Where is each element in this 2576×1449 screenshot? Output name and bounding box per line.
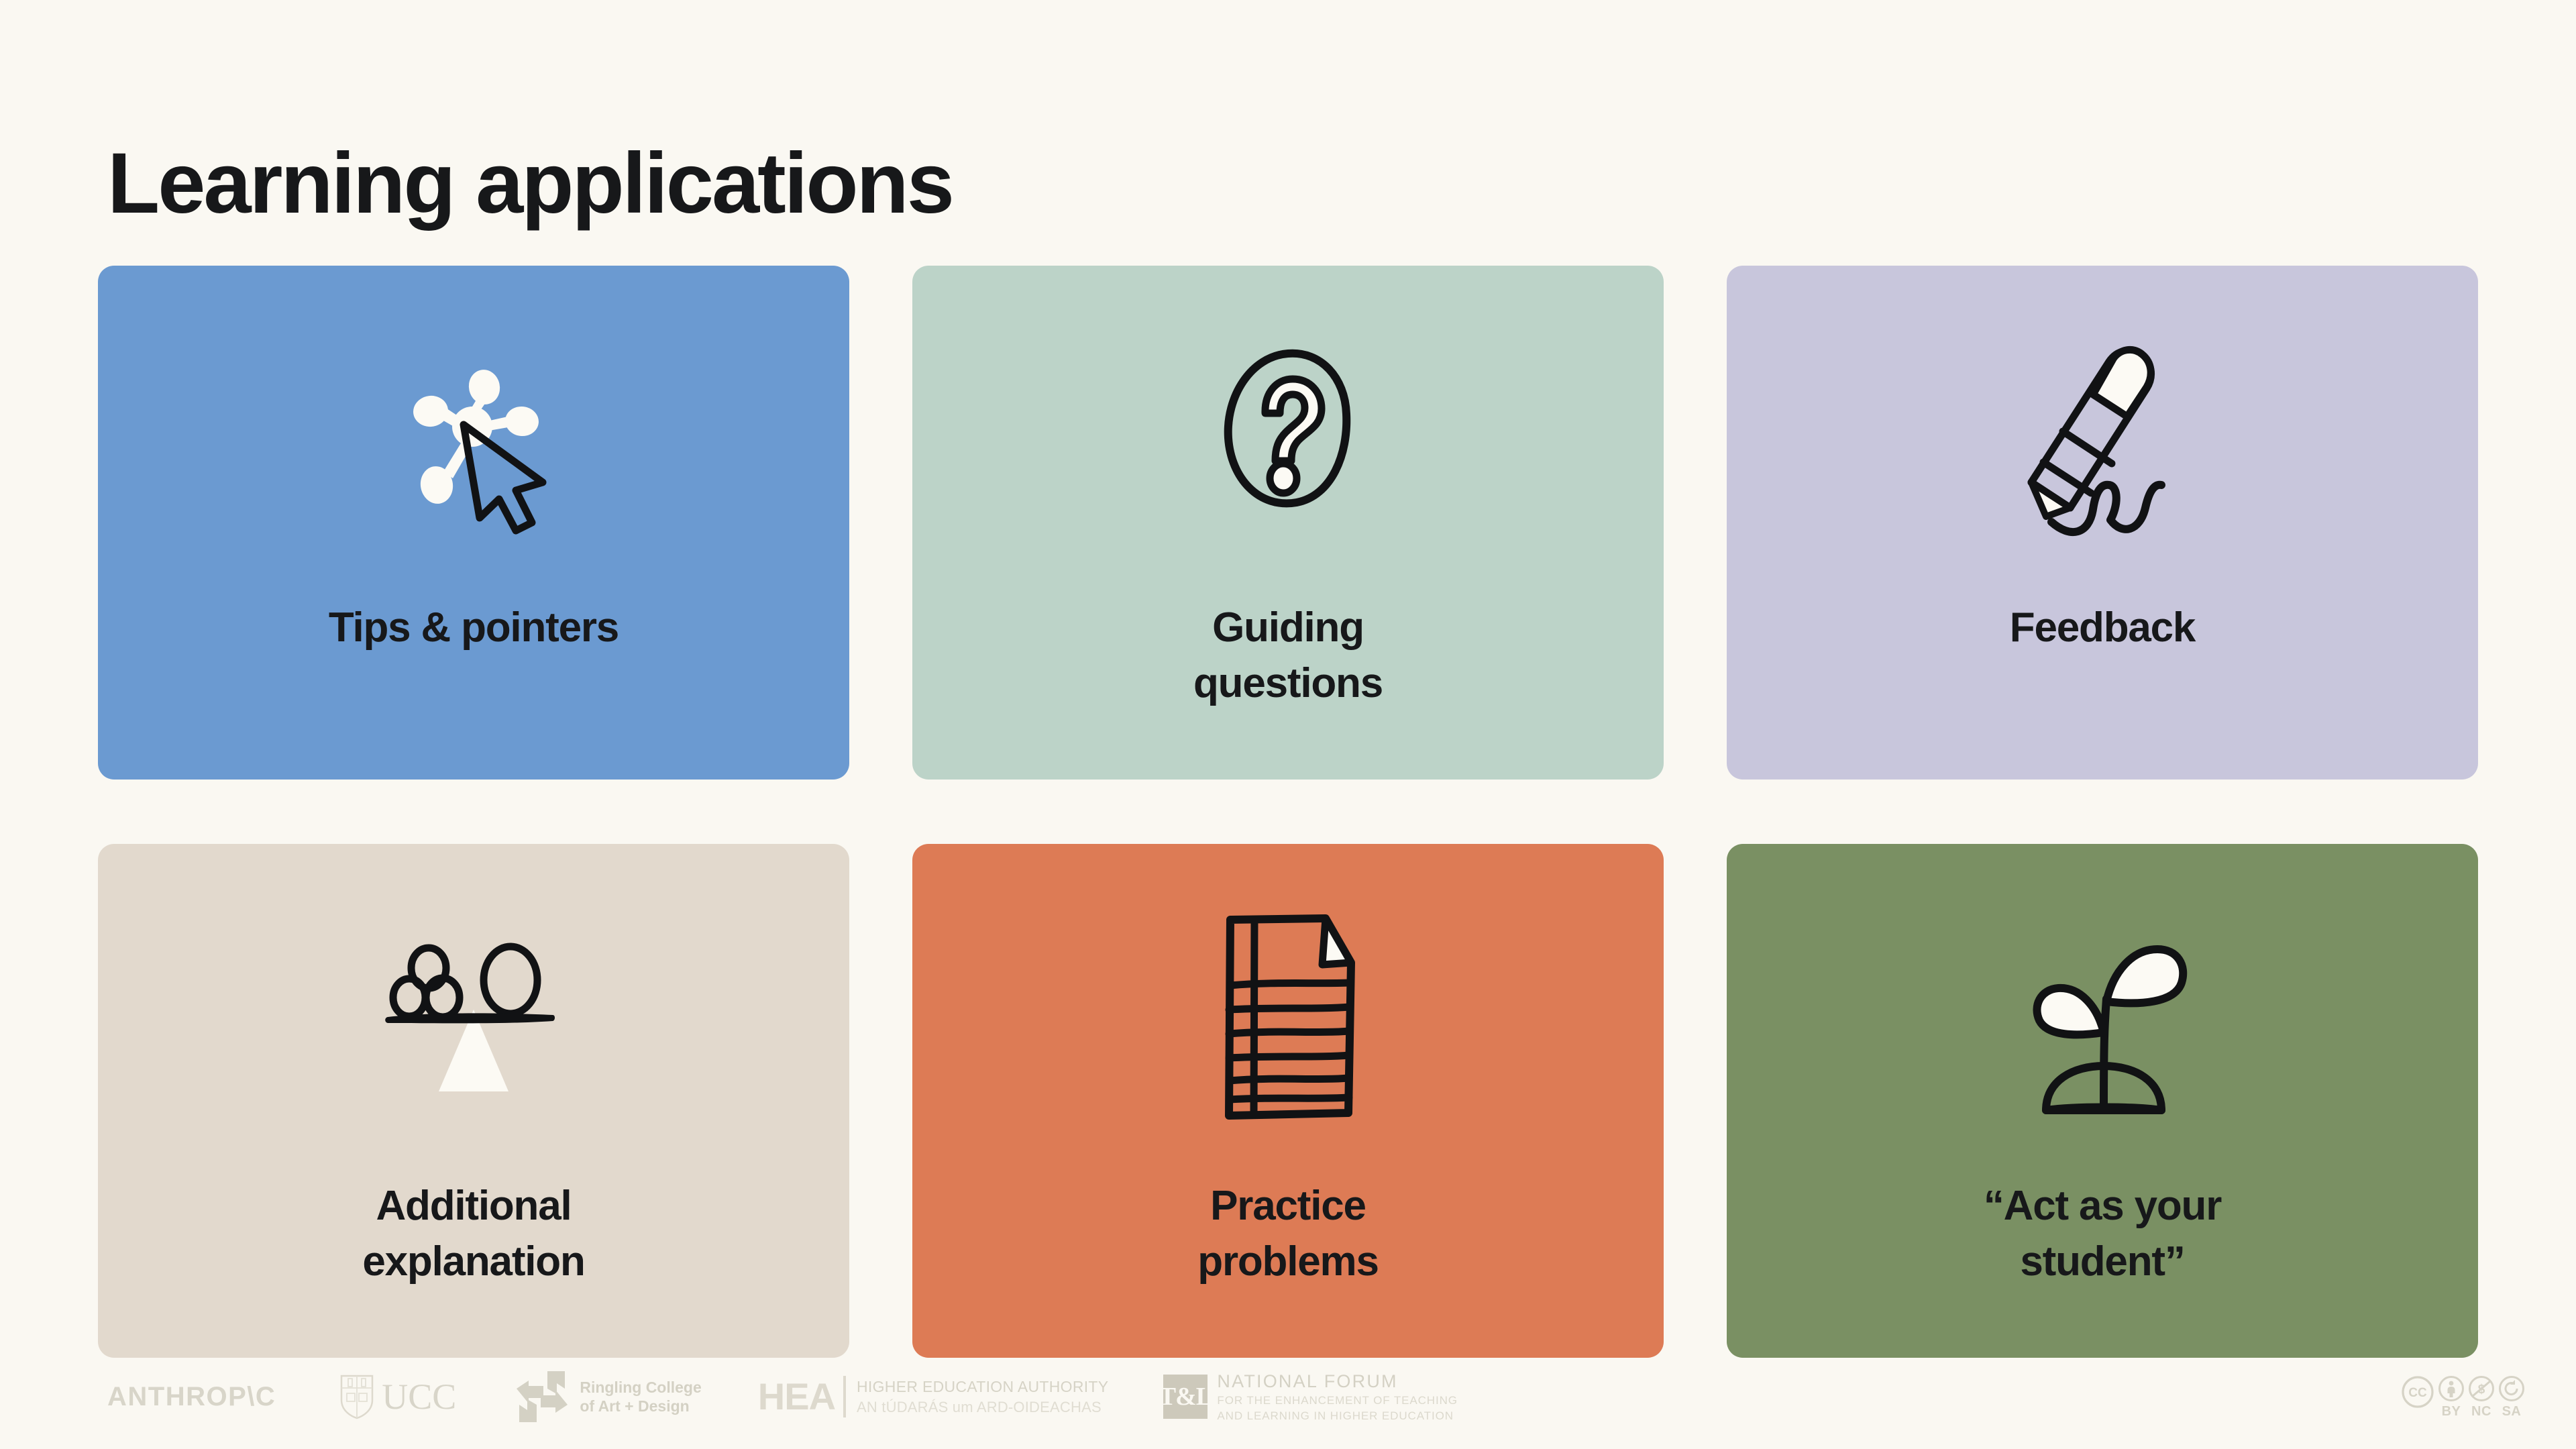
cc-badge-cc: CC bbox=[2401, 1375, 2434, 1409]
balance-seesaw-icon bbox=[98, 884, 849, 1152]
footer: ANTHROP\C UCC Ring bbox=[0, 1362, 2576, 1449]
hea-tagline: HIGHER EDUCATION AUTHORITY AN tÚDARÁS um… bbox=[857, 1377, 1108, 1417]
worksheet-page-icon bbox=[912, 884, 1664, 1152]
anthropic-logo: ANTHROP\C bbox=[107, 1382, 276, 1412]
cursor-network-icon bbox=[98, 306, 849, 574]
card-label: Tips & pointers bbox=[125, 600, 822, 655]
card-tips-and-pointers[interactable]: Tips & pointers bbox=[98, 266, 849, 780]
card-label: Additional explanation bbox=[125, 1178, 822, 1289]
card-guiding-questions[interactable]: Guiding questions bbox=[912, 266, 1664, 780]
ringling-logo: Ringling College of Art + Design bbox=[514, 1368, 701, 1425]
cc-caption-by: BY bbox=[2442, 1404, 2461, 1419]
cc-caption-sa: SA bbox=[2502, 1404, 2522, 1419]
ucc-logo: UCC bbox=[339, 1373, 456, 1420]
ringling-mark-icon bbox=[514, 1368, 570, 1425]
cc-badge-nc: $ NC bbox=[2468, 1375, 2495, 1419]
national-forum-name: NATIONAL FORUM bbox=[1217, 1370, 1458, 1393]
hea-logo: HEA HIGHER EDUCATION AUTHORITY AN tÚDARÁ… bbox=[758, 1376, 1109, 1417]
card-act-as-your-student[interactable]: “Act as your student” bbox=[1727, 844, 2478, 1358]
question-mark-circle-icon bbox=[912, 306, 1664, 574]
hea-tagline-en: HIGHER EDUCATION AUTHORITY bbox=[857, 1377, 1108, 1397]
card-feedback[interactable]: Feedback bbox=[1727, 266, 2478, 780]
ucc-crest-icon bbox=[339, 1373, 375, 1420]
hea-wordmark: HEA bbox=[758, 1378, 835, 1415]
attribution-person-icon bbox=[2438, 1375, 2465, 1402]
slide-root: Learning applications bbox=[0, 0, 2576, 1449]
creative-commons-license: CC BY $ NC bbox=[2401, 1375, 2525, 1419]
cc-icon: CC bbox=[2401, 1375, 2434, 1409]
card-label: “Act as your student” bbox=[1754, 1178, 2451, 1289]
noncommercial-icon: $ bbox=[2468, 1375, 2495, 1402]
sprout-icon bbox=[1727, 884, 2478, 1152]
national-forum-logo: T&L NATIONAL FORUM FOR THE ENHANCEMENT O… bbox=[1163, 1370, 1458, 1423]
national-forum-tagline: NATIONAL FORUM FOR THE ENHANCEMENT OF TE… bbox=[1217, 1370, 1458, 1423]
cc-caption-nc: NC bbox=[2471, 1404, 2491, 1419]
national-forum-mark: T&L bbox=[1163, 1375, 1207, 1419]
card-grid: Tips & pointers Guiding questions bbox=[98, 266, 2478, 1358]
hea-tagline-ga: AN tÚDARÁS um ARD-OIDEACHAS bbox=[857, 1397, 1108, 1417]
ucc-wordmark: UCC bbox=[382, 1379, 456, 1415]
card-additional-explanation[interactable]: Additional explanation bbox=[98, 844, 849, 1358]
partner-logo-row: ANTHROP\C UCC Ring bbox=[107, 1368, 1458, 1425]
card-label: Feedback bbox=[1754, 600, 2451, 655]
ringling-wordmark: Ringling College of Art + Design bbox=[580, 1378, 701, 1415]
hea-divider bbox=[843, 1376, 846, 1417]
cc-badge-sa: SA bbox=[2498, 1375, 2525, 1419]
svg-text:CC: CC bbox=[2408, 1386, 2427, 1400]
sharealike-icon bbox=[2498, 1375, 2525, 1402]
card-practice-problems[interactable]: Practice problems bbox=[912, 844, 1664, 1358]
cc-badge-by: BY bbox=[2438, 1375, 2465, 1419]
pencil-squiggle-icon bbox=[1727, 306, 2478, 574]
national-forum-sub1: FOR THE ENHANCEMENT OF TEACHING bbox=[1217, 1393, 1458, 1408]
national-forum-sub2: AND LEARNING IN HIGHER EDUCATION bbox=[1217, 1409, 1458, 1424]
card-label: Practice problems bbox=[939, 1178, 1637, 1289]
page-title: Learning applications bbox=[107, 133, 953, 234]
card-label: Guiding questions bbox=[939, 600, 1637, 711]
